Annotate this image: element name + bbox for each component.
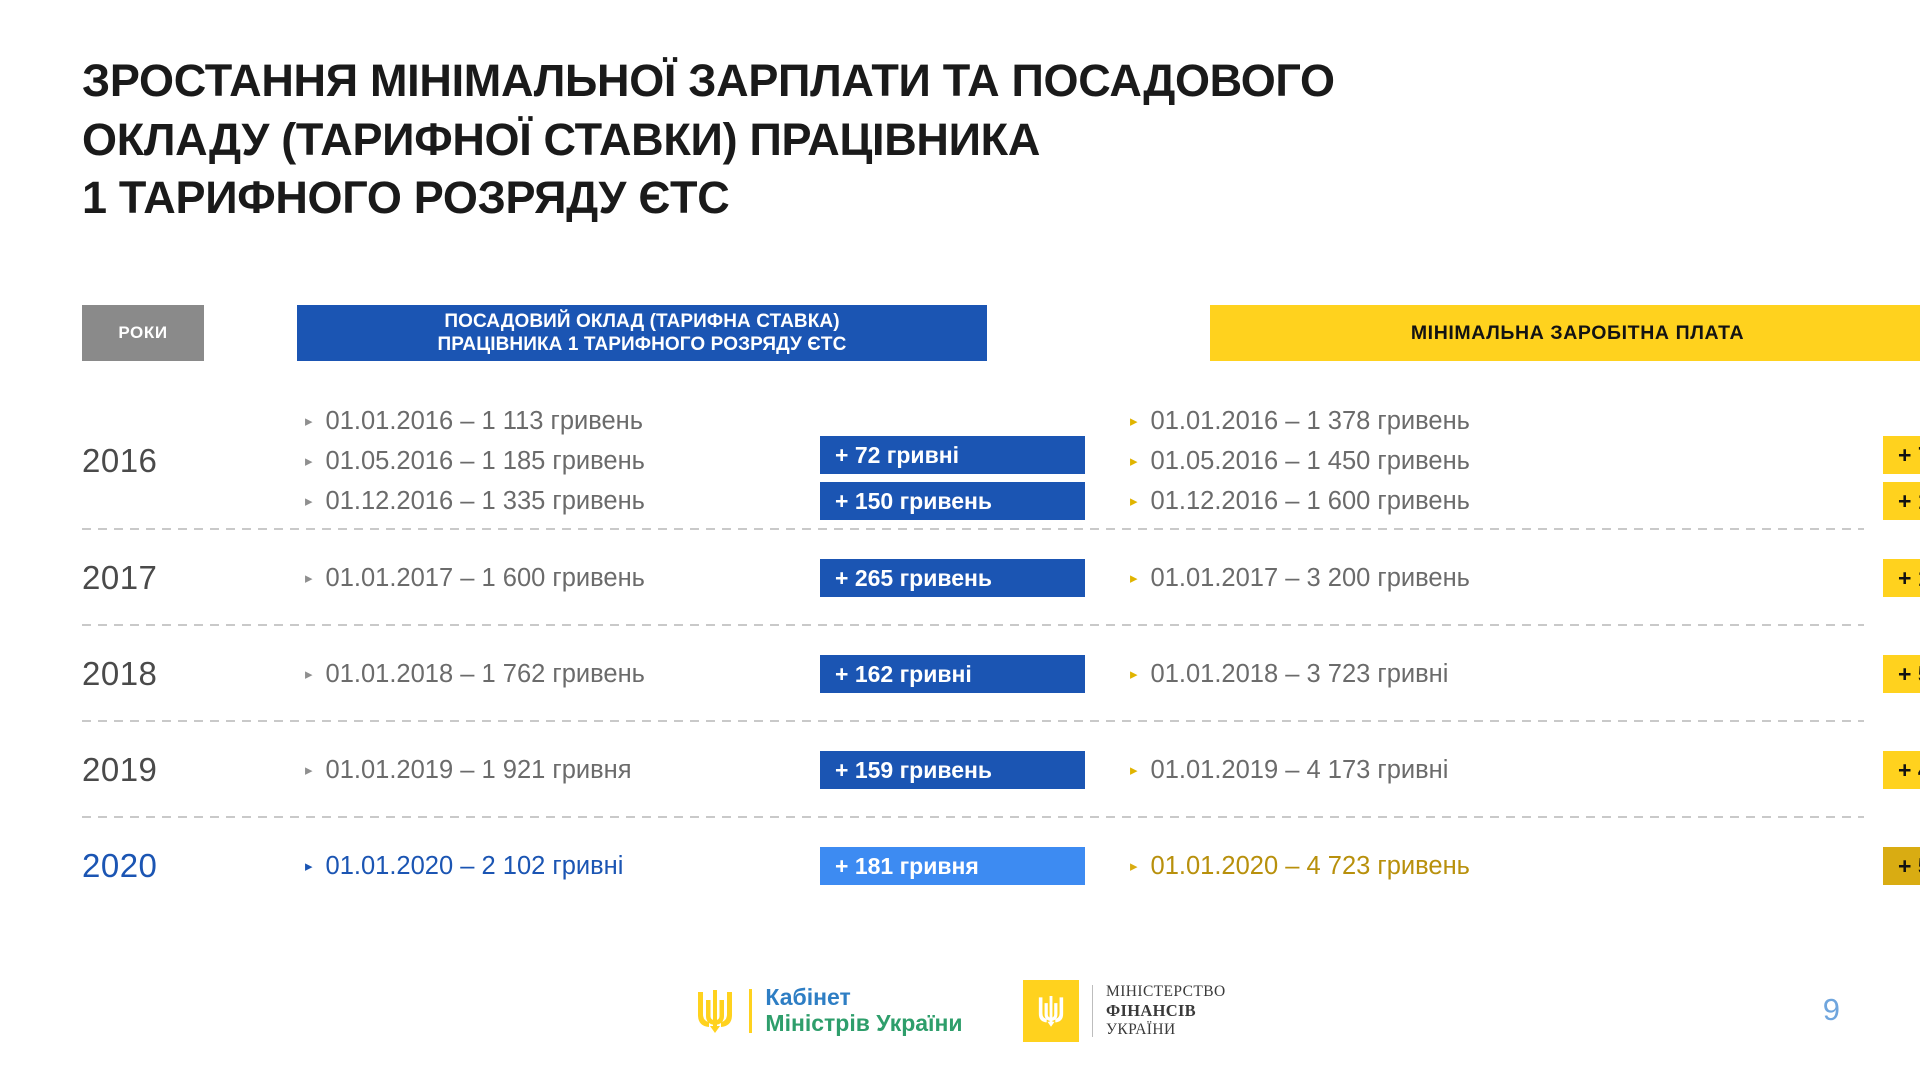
minimum-wage-items: ▸01.01.2020 – 4 723 гривень [1085, 846, 1685, 886]
bullet-icon: ▸ [1130, 763, 1138, 778]
data-item-text: 01.01.2020 – 4 723 гривень [1151, 846, 1470, 886]
increase-badge: + 523 гривні [1883, 655, 1920, 693]
row-year: 2020 [82, 847, 215, 885]
salary-badges: + 181 гривня [820, 847, 1085, 885]
minfin-label: МІНІСТЕРСТВО ФІНАНСІВ УКРАЇНИ [1106, 983, 1226, 1039]
minfin-label-line-3: УКРАЇНИ [1106, 1021, 1226, 1039]
data-item: ▸01.01.2020 – 2 102 гривні [305, 846, 820, 886]
data-item-text: 01.01.2019 – 1 921 гривня [326, 750, 632, 790]
increase-badge: + 1600 гривень [1883, 559, 1920, 597]
salary-badges: + 159 гривень [820, 751, 1085, 789]
minimum-wage-items: ▸01.01.2018 – 3 723 гривні [1085, 654, 1685, 694]
increase-badge: + 181 гривня [820, 847, 1085, 885]
page-title-line-1: ЗРОСТАННЯ МІНІМАЛЬНОЇ ЗАРПЛАТИ ТА ПОСАДО… [82, 52, 1872, 111]
table-header-row: РОКИ ПОСАДОВИЙ ОКЛАД (ТАРИФНА СТАВКА) ПР… [82, 305, 1864, 361]
footer-logos: Кабінет Міністрів України [0, 980, 1920, 1042]
slide-root: ЗРОСТАННЯ МІНІМАЛЬНОЇ ЗАРПЛАТИ ТА ПОСАДО… [0, 0, 1920, 1080]
data-item-text: 01.01.2017 – 1 600 гривень [326, 558, 645, 598]
minimum-wage-items: ▸01.01.2017 – 3 200 гривень [1085, 558, 1685, 598]
data-item: ▸01.01.2018 – 3 723 гривні [1130, 654, 1685, 694]
data-item-text: 01.01.2016 – 1 113 гривень [326, 401, 644, 441]
minfin-emblem-box [1023, 980, 1079, 1042]
row-year: 2016 [82, 442, 215, 480]
data-item: ▸01.01.2020 – 4 723 гривень [1130, 846, 1685, 886]
bullet-icon: ▸ [305, 571, 313, 586]
increase-badge: + 550 гривень [1883, 847, 1920, 885]
cabinet-of-ministers-logo: Кабінет Міністрів України [694, 985, 962, 1037]
bullet-icon: ▸ [305, 414, 313, 429]
header-salary: ПОСАДОВИЙ ОКЛАД (ТАРИФНА СТАВКА) ПРАЦІВН… [297, 305, 987, 361]
data-item: ▸01.01.2017 – 1 600 гривень [305, 558, 820, 598]
bullet-icon: ▸ [1130, 454, 1138, 469]
increase-badge: + 265 гривень [820, 559, 1085, 597]
data-item-text: 01.05.2016 – 1 450 гривень [1151, 441, 1470, 481]
salary-items: ▸01.01.2018 – 1 762 гривень [215, 654, 820, 694]
minfin-label-line-1: МІНІСТЕРСТВО [1106, 983, 1226, 1001]
bullet-icon: ▸ [1130, 859, 1138, 874]
bullet-icon: ▸ [1130, 414, 1138, 429]
table-row: 2018▸01.01.2018 – 1 762 гривень+ 162 гри… [82, 626, 1864, 722]
data-item: ▸01.01.2016 – 1 378 гривень [1130, 401, 1685, 441]
salary-badges: + 72 гривні+ 150 гривень [820, 436, 1085, 520]
bullet-icon: ▸ [305, 763, 313, 778]
increase-badge: + 162 гривні [820, 655, 1085, 693]
header-years: РОКИ [82, 305, 204, 361]
header-salary-line-1: ПОСАДОВИЙ ОКЛАД (ТАРИФНА СТАВКА) [444, 310, 839, 333]
increase-badge: + 72 гривні [1883, 436, 1920, 474]
salary-badges: + 162 гривні [820, 655, 1085, 693]
increase-badge: + 150 гривень [820, 482, 1085, 520]
data-item: ▸01.01.2018 – 1 762 гривень [305, 654, 820, 694]
minfin-label-line-2: ФІНАНСІВ [1106, 1001, 1226, 1020]
header-salary-line-2: ПРАЦІВНИКА 1 ТАРИФНОГО РОЗРЯДУ ЄТС [438, 333, 847, 356]
data-item-text: 01.01.2020 – 2 102 гривні [326, 846, 624, 886]
data-item: ▸01.01.2019 – 1 921 гривня [305, 750, 820, 790]
salary-items: ▸01.01.2016 – 1 113 гривень▸01.05.2016 –… [215, 401, 820, 522]
minimum-wage-badges: + 72 гривні+ 150 гривень [1883, 436, 1920, 520]
minimum-wage-badges: + 450 гривень [1883, 751, 1920, 789]
data-item: ▸01.12.2016 – 1 335 гривень [305, 481, 820, 521]
bullet-icon: ▸ [305, 859, 313, 874]
table-row: 2020▸01.01.2020 – 2 102 гривні+ 181 грив… [82, 818, 1864, 914]
data-item: ▸01.01.2017 – 3 200 гривень [1130, 558, 1685, 598]
logo-divider-minfin [1092, 985, 1094, 1037]
header-minimum-wage: МІНІМАЛЬНА ЗАРОБІТНА ПЛАТА [1210, 305, 1920, 361]
bullet-icon: ▸ [305, 494, 313, 509]
logo-divider-cmu [749, 989, 752, 1033]
minimum-wage-badges: + 523 гривні [1883, 655, 1920, 693]
data-item-text: 01.01.2016 – 1 378 гривень [1151, 401, 1470, 441]
increase-badge: + 159 гривень [820, 751, 1085, 789]
data-item: ▸01.12.2016 – 1 600 гривень [1130, 481, 1685, 521]
row-year: 2019 [82, 751, 215, 789]
increase-badge: + 72 гривні [820, 436, 1085, 474]
cmu-label: Кабінет Міністрів України [765, 985, 962, 1037]
cmu-label-line-1: Кабінет [765, 985, 962, 1011]
minimum-wage-items: ▸01.01.2016 – 1 378 гривень▸01.05.2016 –… [1085, 401, 1685, 522]
data-item-text: 01.12.2016 – 1 600 гривень [1151, 481, 1470, 521]
page-title-line-3: 1 ТАРИФНОГО РОЗРЯДУ ЄТС [82, 169, 1872, 228]
row-year: 2017 [82, 559, 215, 597]
trident-icon-cmu [694, 986, 736, 1036]
data-item: ▸01.05.2016 – 1 185 гривень [305, 441, 820, 481]
bullet-icon: ▸ [1130, 571, 1138, 586]
salary-badges: + 265 гривень [820, 559, 1085, 597]
ministry-of-finance-logo: МІНІСТЕРСТВО ФІНАНСІВ УКРАЇНИ [1023, 980, 1226, 1042]
bullet-icon: ▸ [1130, 667, 1138, 682]
increase-badge: + 150 гривень [1883, 482, 1920, 520]
data-item-text: 01.01.2018 – 1 762 гривень [326, 654, 645, 694]
page-title-line-2: ОКЛАДУ (ТАРИФНОЇ СТАВКИ) ПРАЦІВНИКА [82, 111, 1872, 170]
minimum-wage-items: ▸01.01.2019 – 4 173 гривні [1085, 750, 1685, 790]
salary-items: ▸01.01.2017 – 1 600 гривень [215, 558, 820, 598]
table-body: 2016▸01.01.2016 – 1 113 гривень▸01.05.20… [82, 392, 1864, 914]
bullet-icon: ▸ [1130, 494, 1138, 509]
bullet-icon: ▸ [305, 454, 313, 469]
bullet-icon: ▸ [305, 667, 313, 682]
data-item: ▸01.01.2019 – 4 173 гривні [1130, 750, 1685, 790]
page-title: ЗРОСТАННЯ МІНІМАЛЬНОЇ ЗАРПЛАТИ ТА ПОСАДО… [82, 52, 1872, 228]
minimum-wage-badges: + 1600 гривень [1883, 559, 1920, 597]
cmu-label-line-2: Міністрів України [765, 1011, 962, 1037]
data-item-text: 01.01.2018 – 3 723 гривні [1151, 654, 1449, 694]
increase-badge: + 450 гривень [1883, 751, 1920, 789]
data-item-text: 01.01.2019 – 4 173 гривні [1151, 750, 1449, 790]
salary-items: ▸01.01.2019 – 1 921 гривня [215, 750, 820, 790]
data-item: ▸01.05.2016 – 1 450 гривень [1130, 441, 1685, 481]
row-year: 2018 [82, 655, 215, 693]
salary-items: ▸01.01.2020 – 2 102 гривні [215, 846, 820, 886]
minimum-wage-badges: + 550 гривень [1883, 847, 1920, 885]
page-number: 9 [1823, 992, 1840, 1028]
table-row: 2019▸01.01.2019 – 1 921 гривня+ 159 грив… [82, 722, 1864, 818]
data-item-text: 01.12.2016 – 1 335 гривень [326, 481, 645, 521]
trident-icon-minfin [1036, 992, 1066, 1030]
table-row: 2016▸01.01.2016 – 1 113 гривень▸01.05.20… [82, 392, 1864, 530]
table-row: 2017▸01.01.2017 – 1 600 гривень+ 265 гри… [82, 530, 1864, 626]
data-item-text: 01.05.2016 – 1 185 гривень [326, 441, 645, 481]
data-item: ▸01.01.2016 – 1 113 гривень [305, 401, 820, 441]
data-item-text: 01.01.2017 – 3 200 гривень [1151, 558, 1470, 598]
